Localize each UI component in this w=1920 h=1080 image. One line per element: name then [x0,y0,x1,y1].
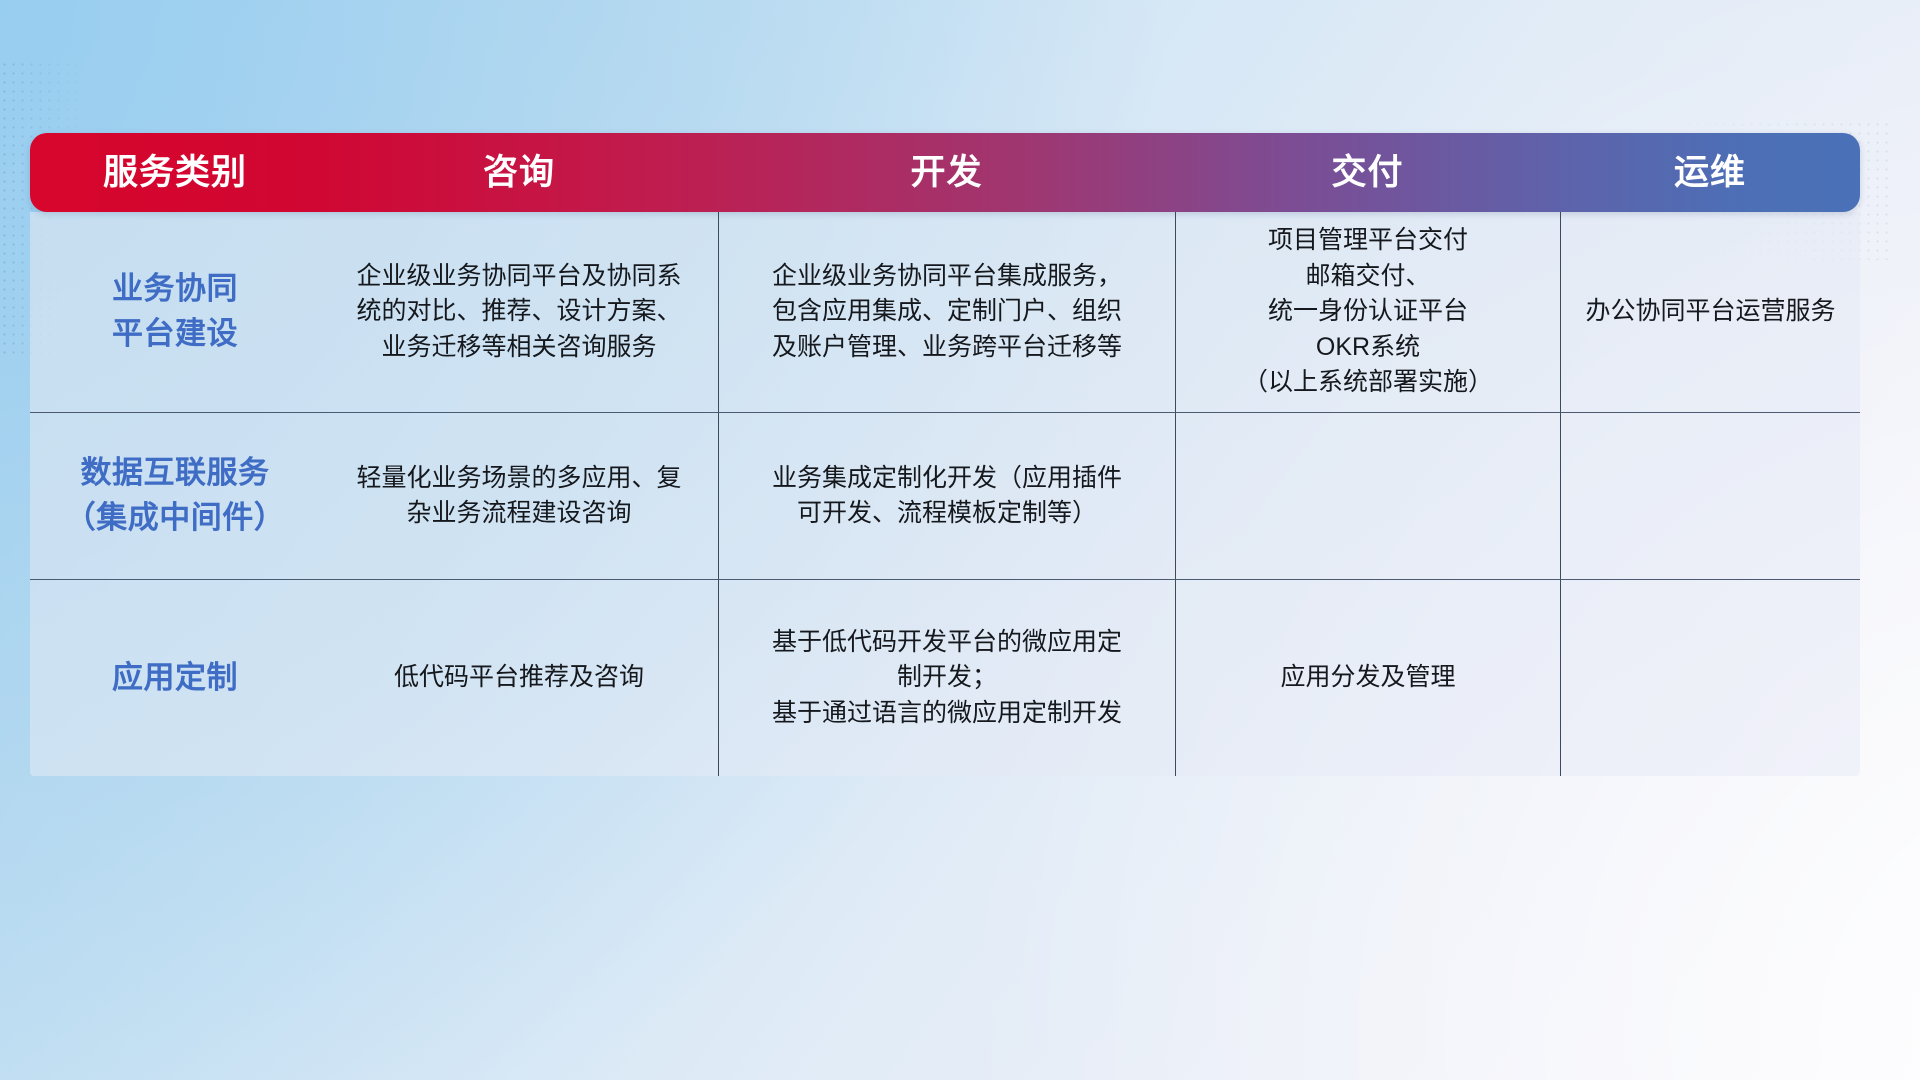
table-row: 业务协同平台建设 企业级业务协同平台及协同系统的对比、推荐、设计方案、业务迁移等… [30,212,1860,412]
row-consulting-cell: 企业级业务协同平台及协同系统的对比、推荐、设计方案、业务迁移等相关咨询服务 [320,212,718,412]
row-delivery-cell: 项目管理平台交付邮箱交付、统一身份认证平台OKR系统（以上系统部署实施） [1175,212,1560,412]
table-row: 数据互联服务（集成中间件） 轻量化业务场景的多应用、复杂业务流程建设咨询 业务集… [30,412,1860,579]
row-development-text: 业务集成定制化开发（应用插件可开发、流程模板定制等） [733,461,1161,532]
table-body: 业务协同平台建设 企业级业务协同平台及协同系统的对比、推荐、设计方案、业务迁移等… [30,212,1860,776]
row-operations-cell [1560,413,1860,579]
row-development-cell: 基于低代码开发平台的微应用定制开发；基于通过语言的微应用定制开发 [718,580,1175,776]
column-header-development: 开发 [718,155,1175,190]
row-development-cell: 业务集成定制化开发（应用插件可开发、流程模板定制等） [718,413,1175,579]
column-header-delivery: 交付 [1175,155,1560,190]
row-category-label: 数据互联服务（集成中间件） [44,451,306,541]
column-header-operations: 运维 [1560,155,1860,190]
row-category-cell: 应用定制 [30,580,320,776]
row-delivery-cell [1175,413,1560,579]
row-operations-cell [1560,580,1860,776]
row-category-label: 应用定制 [44,656,306,701]
row-development-text: 企业级业务协同平台集成服务，包含应用集成、定制门户、组织及账户管理、业务跨平台迁… [733,259,1161,366]
row-delivery-text: 应用分发及管理 [1190,660,1546,696]
table-header-row: 服务类别 咨询 开发 交付 运维 [30,133,1860,212]
table-row: 应用定制 低代码平台推荐及咨询 基于低代码开发平台的微应用定制开发；基于通过语言… [30,579,1860,776]
service-matrix-table: 服务类别 咨询 开发 交付 运维 业务协同平台建设 企业级业务协同平台及协同系统… [30,133,1860,776]
row-consulting-cell: 轻量化业务场景的多应用、复杂业务流程建设咨询 [320,413,718,579]
slide-canvas: 服务类别 咨询 开发 交付 运维 业务协同平台建设 企业级业务协同平台及协同系统… [0,0,1920,1080]
row-operations-text: 办公协同平台运营服务 [1575,294,1846,330]
row-consulting-text: 企业级业务协同平台及协同系统的对比、推荐、设计方案、业务迁移等相关咨询服务 [334,259,704,366]
row-delivery-cell: 应用分发及管理 [1175,580,1560,776]
row-consulting-text: 低代码平台推荐及咨询 [334,660,704,696]
row-development-text: 基于低代码开发平台的微应用定制开发；基于通过语言的微应用定制开发 [733,625,1161,732]
row-category-label: 业务协同平台建设 [44,267,306,357]
column-header-service-category: 服务类别 [30,155,320,190]
row-category-cell: 业务协同平台建设 [30,212,320,412]
row-category-cell: 数据互联服务（集成中间件） [30,413,320,579]
column-header-consulting: 咨询 [320,155,718,190]
row-operations-cell: 办公协同平台运营服务 [1560,212,1860,412]
row-consulting-text: 轻量化业务场景的多应用、复杂业务流程建设咨询 [334,461,704,532]
row-delivery-text: 项目管理平台交付邮箱交付、统一身份认证平台OKR系统（以上系统部署实施） [1190,223,1546,401]
row-consulting-cell: 低代码平台推荐及咨询 [320,580,718,776]
row-development-cell: 企业级业务协同平台集成服务，包含应用集成、定制门户、组织及账户管理、业务跨平台迁… [718,212,1175,412]
